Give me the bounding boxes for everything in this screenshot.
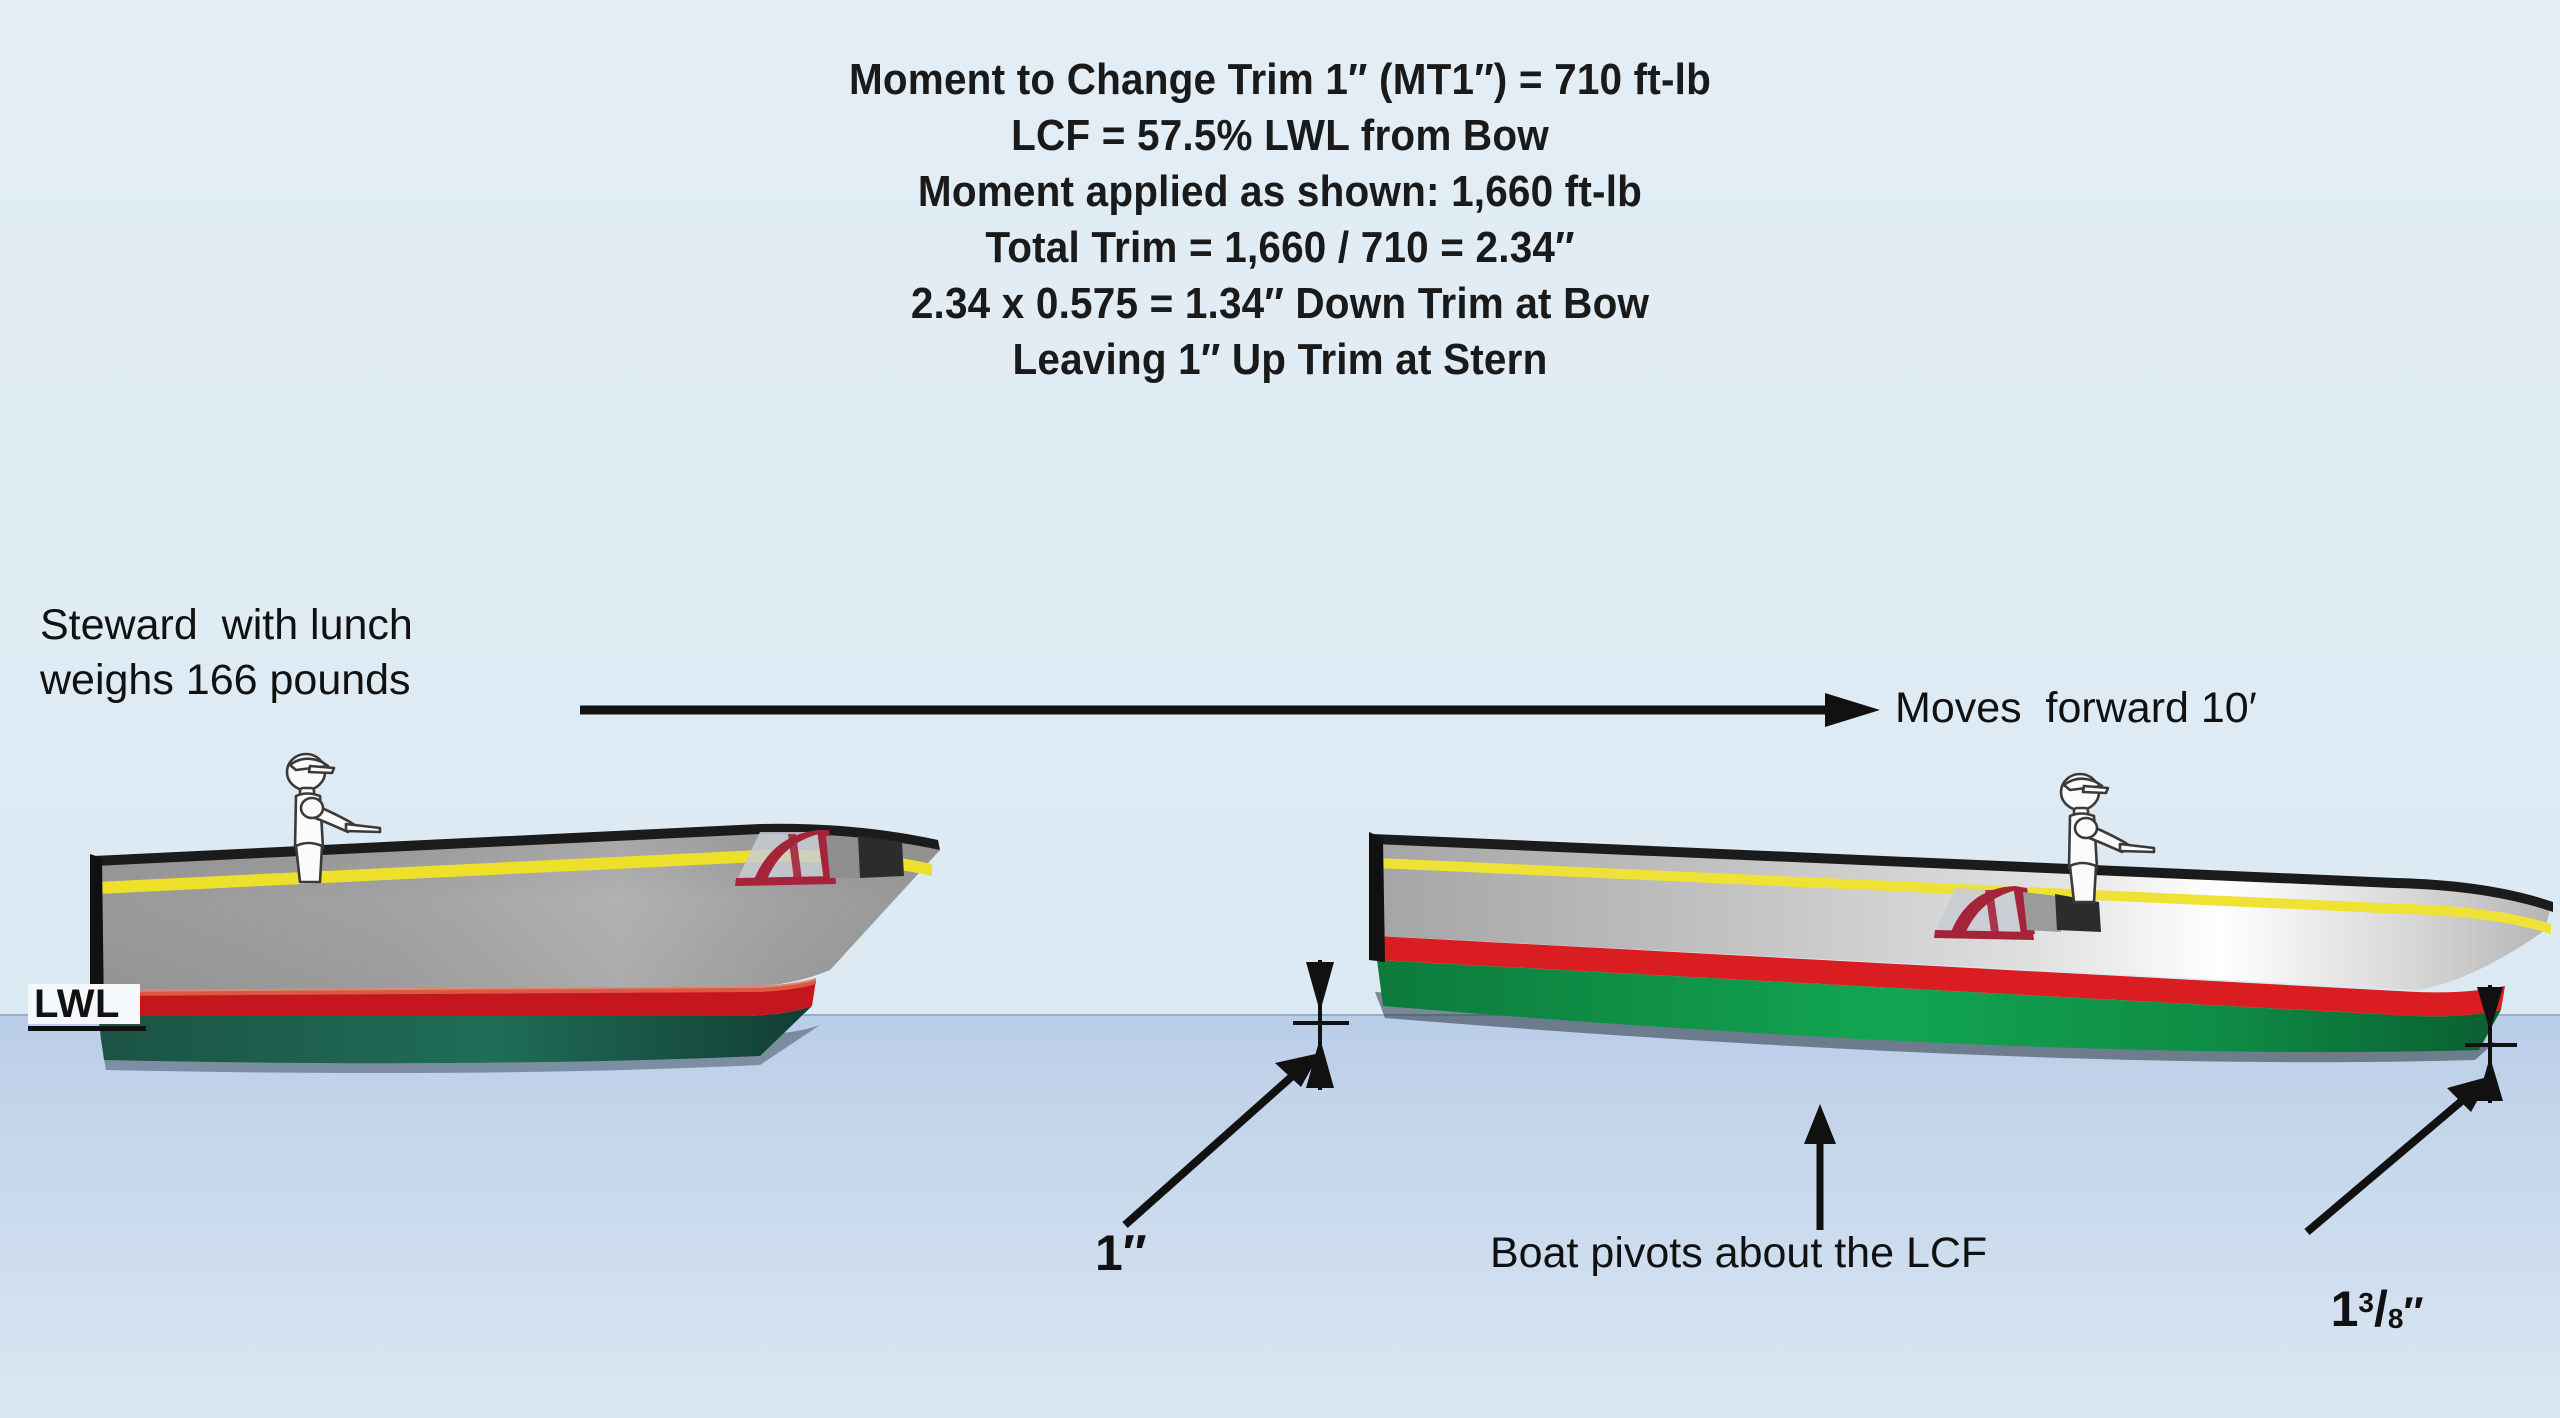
calc-line-4: Total Trim = 1,660 / 710 = 2.34″ [102,220,2457,276]
calc-line-1: Moment to Change Trim 1″ (MT1″) = 710 ft… [102,52,2457,108]
calculation-block: Moment to Change Trim 1″ (MT1″) = 710 ft… [0,52,2560,388]
fraction-numerator: 3 [2358,1287,2374,1318]
right-trim-whole: 1 [2331,1281,2359,1337]
left-trim-leader [1115,1035,1335,1235]
right-trim-unit: ″ [2403,1288,2423,1335]
shoulder [2075,818,2097,838]
calc-line-2: LCF = 57.5% LWL from Bow [102,108,2457,164]
shoulder [301,798,323,818]
calc-line-3: Moment applied as shown: 1,660 ft-lb [102,164,2457,220]
right-trim-leader [2295,1060,2505,1240]
moves-forward-arrow [580,690,1880,730]
arrowhead-down [1306,962,1334,1012]
moves-forward-label: Moves forward 10′ [1895,683,2257,733]
lwl-underline [28,1026,146,1031]
arrowhead-down [2477,987,2503,1031]
boat-left [60,820,1260,1120]
calc-line-5: 2.34 x 0.575 = 1.34″ Down Trim at Bow [102,276,2457,332]
steward-label-line2: weighs 166 pounds [40,655,411,705]
pivot-label: Boat pivots about the LCF [1490,1228,1987,1278]
tray [2120,844,2154,852]
steward-left-figure [276,752,396,862]
lwl-label: LWL [34,982,120,1027]
steward-right-figure [2050,772,2170,882]
right-trim-value: 13/8″ [2275,1228,2424,1394]
transom [1369,832,1385,962]
tray [346,824,380,832]
right-trim-fraction: 3/8 [2358,1278,2403,1344]
left-trim-value: 1″ [1095,1228,1147,1278]
calc-line-6: Leaving 1″ Up Trim at Stern [102,332,2457,388]
legs [2070,863,2096,902]
cap-brim [2083,786,2108,793]
diagram-canvas: Moment to Change Trim 1″ (MT1″) = 710 ft… [0,0,2560,1418]
steward-label-line1: Steward with lunch [40,600,413,650]
pivot-arrow [1790,1100,1850,1230]
legs [296,843,322,882]
cap-brim [309,766,334,773]
fraction-denominator: 8 [2388,1303,2404,1334]
